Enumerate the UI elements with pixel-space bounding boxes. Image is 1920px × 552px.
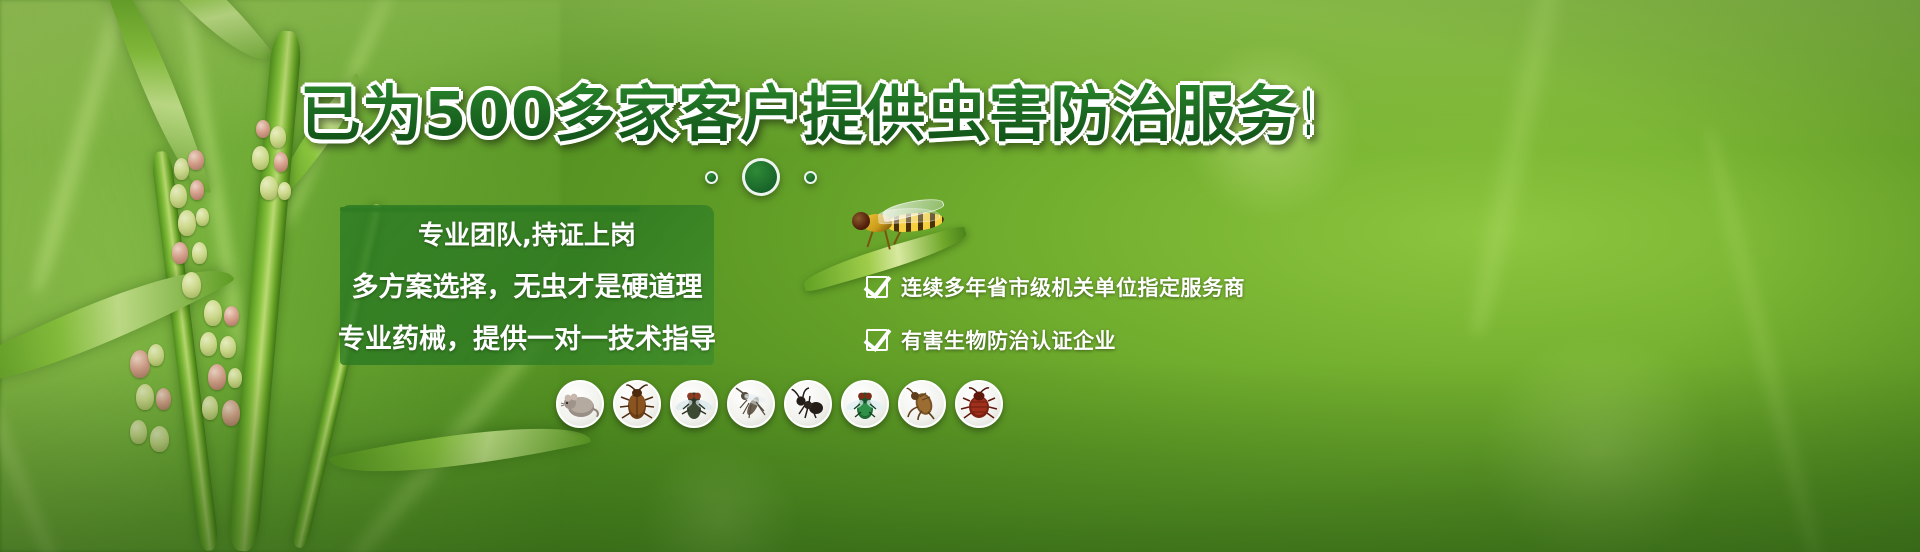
rodent-icon [556, 380, 604, 428]
checklist-item-label: 连续多年省市级机关单位指定服务商 [901, 272, 1245, 302]
blowfly-icon [841, 380, 889, 428]
mosquito-icon [727, 380, 775, 428]
checklist-item: 连续多年省市级机关单位指定服务商 [866, 272, 1245, 302]
checklist-item: 有害生物防治认证企业 [866, 325, 1245, 355]
pest-control-promo-banner: 已为500多家客户提供虫害防治服务! 专业团队,持证上岗 多方案选择，无虫才是硬… [0, 0, 1920, 552]
ant-icon [784, 380, 832, 428]
hoverfly-icon [848, 200, 956, 246]
bedbug-icon [955, 380, 1003, 428]
housefly-icon [670, 380, 718, 428]
selling-point-1: 专业团队,持证上岗 [418, 215, 636, 252]
checkbox-check-icon [866, 276, 888, 298]
checkbox-check-icon [866, 329, 888, 351]
selling-point-2: 多方案选择，无虫才是硬道理 [352, 265, 703, 304]
selling-point-3: 专业药械，提供一对一技术指导 [338, 317, 716, 356]
dot-large-icon [742, 158, 780, 196]
dot-small-icon [804, 171, 817, 184]
decorative-dots [705, 158, 817, 196]
cockroach-icon [613, 380, 661, 428]
flea-icon [898, 380, 946, 428]
selling-points-list: 专业团队,持证上岗 多方案选择，无虫才是硬道理 专业药械，提供一对一技术指导 [340, 205, 714, 365]
checklist-item-label: 有害生物防治认证企业 [901, 325, 1116, 355]
credentials-checklist: 连续多年省市级机关单位指定服务商 有害生物防治认证企业 [866, 272, 1245, 355]
pest-icon-strip [556, 380, 1003, 428]
page-title: 已为500多家客户提供虫害防治服务! [300, 78, 1310, 150]
dot-small-icon [705, 171, 718, 184]
